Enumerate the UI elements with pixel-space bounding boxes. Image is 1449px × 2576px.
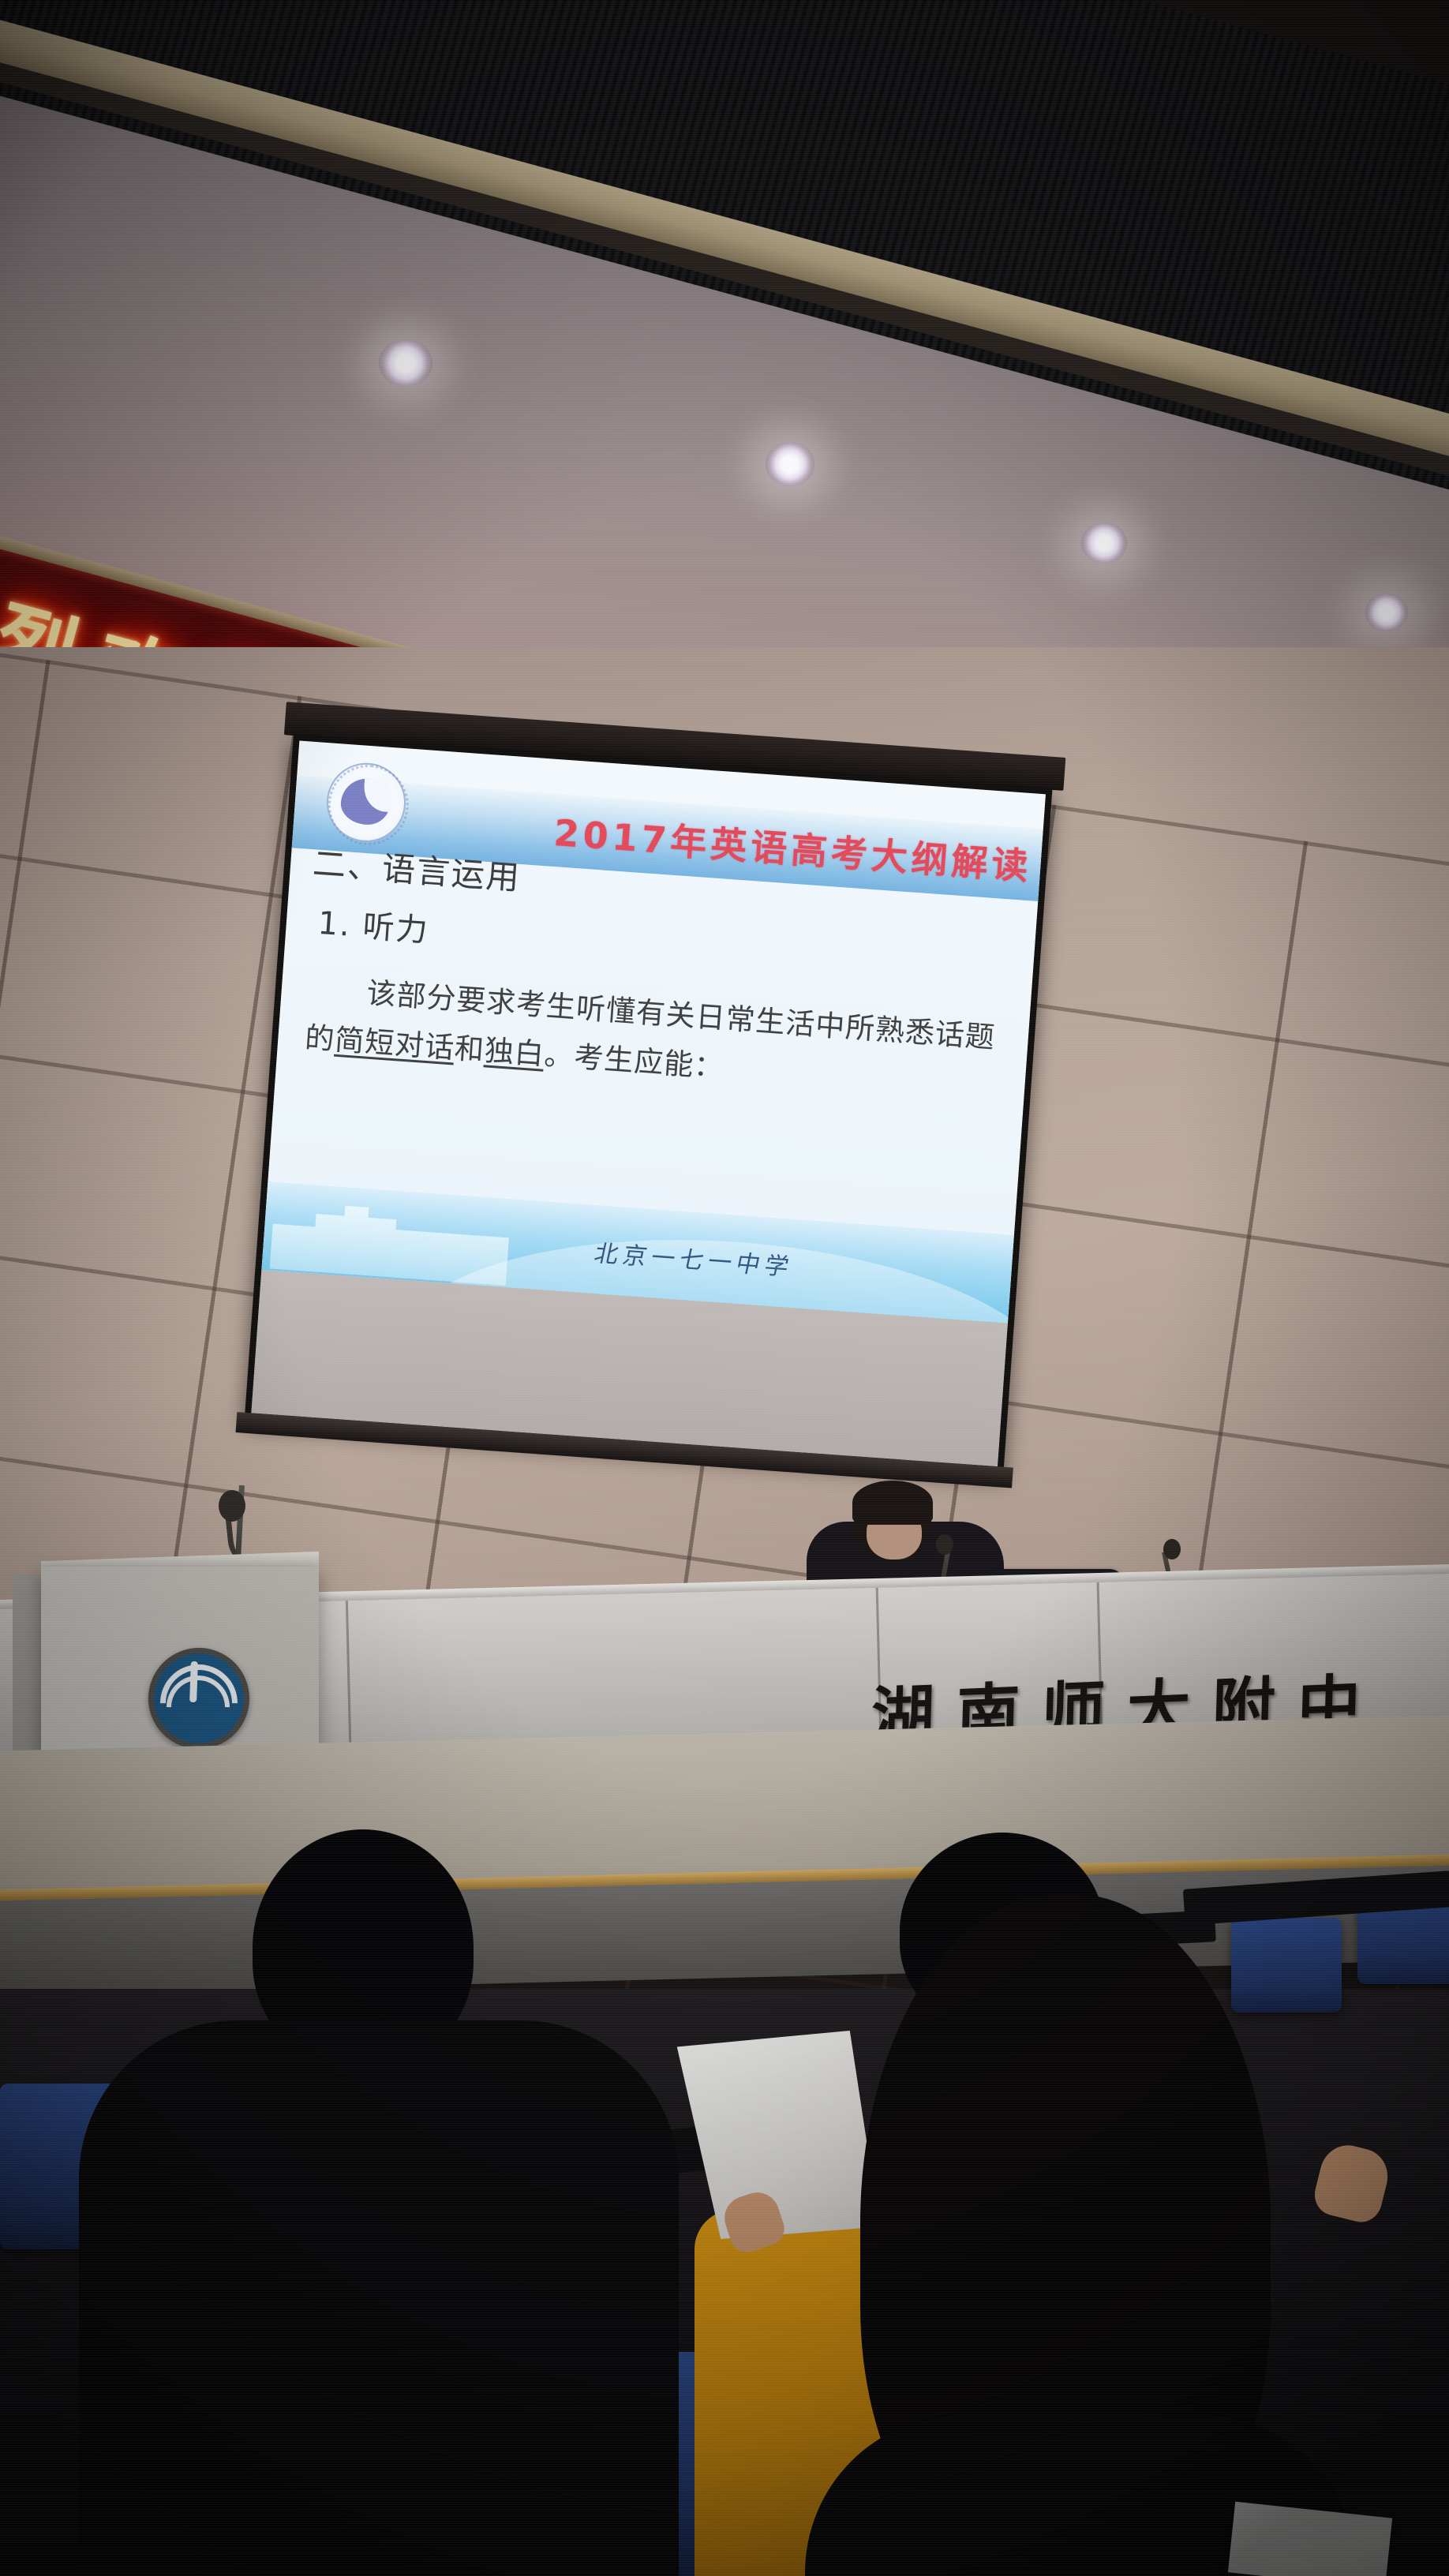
downlight-3 <box>1081 522 1127 563</box>
school-emblem-icon <box>148 1648 249 1749</box>
slide-body-text: 该部分要求考生听懂有关日常生活中所熟悉话题的简短对话和独白。考生应能： <box>303 964 1006 1112</box>
table-microphone-head-right <box>1163 1539 1181 1559</box>
lectern-microphone-icon <box>219 1490 245 1522</box>
speaker-hair <box>852 1481 933 1525</box>
downlight-2 <box>766 442 814 486</box>
body-suffix: 。考生应能： <box>543 1038 724 1084</box>
powerpoint-slide: 2017年英语高考大纲解读 二、语言运用 1. 听力 该部分要求考生听懂有关日常… <box>261 741 1046 1324</box>
conference-hall-photo: 热烈欢迎各位专家领导及兄弟学校老师来我校参加高考研讨会 2017年英语高考大纲解… <box>0 0 1449 2576</box>
table-microphone-head <box>936 1534 953 1555</box>
slide-subheading: 1. 听力 <box>316 897 431 951</box>
downlight-1 <box>379 339 432 387</box>
screen-canvas: 2017年英语高考大纲解读 二、语言运用 1. 听力 该部分要求考生听懂有关日常… <box>251 741 1046 1467</box>
body-underline-2: 独白 <box>483 1033 545 1071</box>
body-underline-1: 简短对话 <box>334 1023 456 1065</box>
audience-chair-2 <box>1231 1918 1342 2012</box>
projection-screen: 2017年英语高考大纲解读 二、语言运用 1. 听力 该部分要求考生听懂有关日常… <box>245 734 1053 1473</box>
audience-shoulders-left <box>79 2020 679 2576</box>
downlight-4 <box>1365 593 1408 631</box>
body-middle: 和 <box>454 1032 486 1068</box>
